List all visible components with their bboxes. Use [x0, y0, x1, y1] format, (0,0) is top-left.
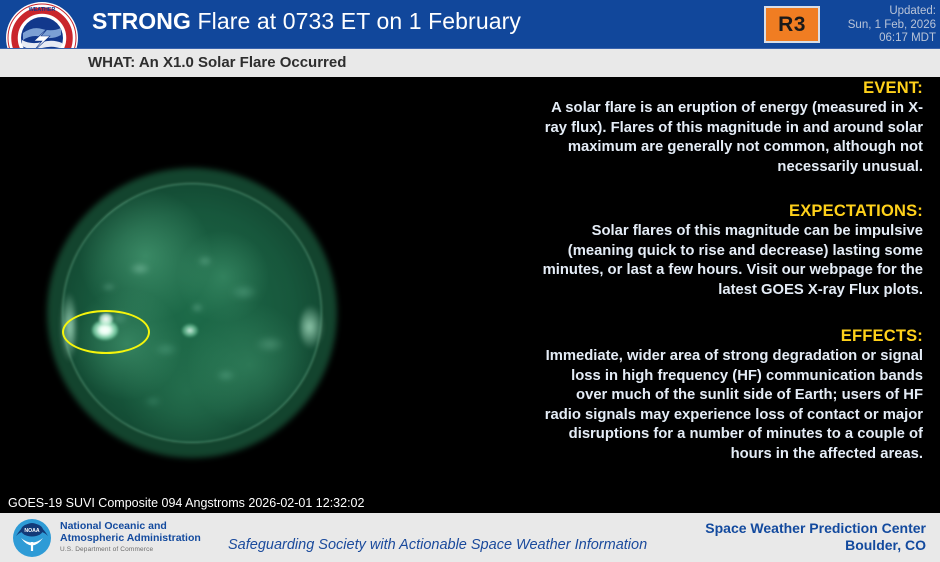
- subheader-bar: WHAT: An X1.0 Solar Flare Occurred: [0, 48, 940, 77]
- section-expectations-body: Solar flares of this magnitude can be im…: [536, 222, 923, 300]
- alert-text-panel: EVENT: A solar flare is an eruption of e…: [536, 77, 940, 495]
- updated-date: Sun, 1 Feb, 2026: [830, 19, 936, 33]
- section-event: EVENT: A solar flare is an eruption of e…: [536, 79, 940, 177]
- section-event-body: A solar flare is an eruption of energy (…: [536, 99, 923, 177]
- svg-text:NOAA: NOAA: [24, 528, 40, 534]
- footer-bar: NOAA National Oceanic and Atmospheric Ad…: [0, 513, 940, 562]
- section-effects-title: EFFECTS:: [536, 327, 923, 346]
- swpc-attribution: Space Weather Prediction Center Boulder,…: [626, 520, 926, 554]
- agency-line-1: National Oceanic and: [60, 521, 201, 533]
- what-summary: WHAT: An X1.0 Solar Flare Occurred: [88, 54, 346, 71]
- status-badge-r3: R3: [764, 6, 820, 43]
- noaa-department: U.S. Department of Commerce: [60, 546, 153, 553]
- section-effects-body: Immediate, wider area of strong degradat…: [536, 347, 923, 465]
- noaa-agency-name: National Oceanic and Atmospheric Adminis…: [60, 521, 201, 544]
- swpc-center-name: Space Weather Prediction Center: [626, 520, 926, 537]
- footer-tagline: Safeguarding Society with Actionable Spa…: [228, 537, 647, 553]
- noaa-emblem-icon: NOAA: [12, 518, 52, 558]
- title-severity: STRONG: [92, 8, 191, 34]
- section-event-title: EVENT:: [536, 79, 923, 98]
- title-remainder: Flare at 0733 ET on 1 February: [191, 8, 521, 34]
- page-title: STRONG Flare at 0733 ET on 1 February: [92, 8, 521, 35]
- content-area: GOES-19 SUVI Composite 094 Angstroms 202…: [0, 77, 940, 513]
- solar-image-panel: [0, 77, 536, 495]
- space-weather-alert-graphic: STRONG Flare at 0733 ET on 1 February R3…: [0, 0, 940, 562]
- agency-line-2: Atmospheric Administration: [60, 533, 201, 545]
- image-caption: GOES-19 SUVI Composite 094 Angstroms 202…: [8, 496, 364, 510]
- header-bar: STRONG Flare at 0733 ET on 1 February R3…: [0, 0, 940, 48]
- section-effects: EFFECTS: Immediate, wider area of strong…: [536, 327, 940, 465]
- updated-label: Updated:: [830, 5, 936, 19]
- svg-text:WEATHER: WEATHER: [29, 7, 56, 13]
- active-region-secondary: [182, 324, 198, 337]
- updated-timestamp: Updated: Sun, 1 Feb, 2026 06:17 MDT: [830, 5, 936, 46]
- section-expectations-title: EXPECTATIONS:: [536, 202, 923, 221]
- updated-time: 06:17 MDT: [830, 32, 936, 46]
- section-expectations: EXPECTATIONS: Solar flares of this magni…: [536, 202, 940, 300]
- flare-region-ellipse-marker: [62, 310, 150, 354]
- limb-brightening-east: [300, 305, 324, 349]
- swpc-location: Boulder, CO: [626, 537, 926, 554]
